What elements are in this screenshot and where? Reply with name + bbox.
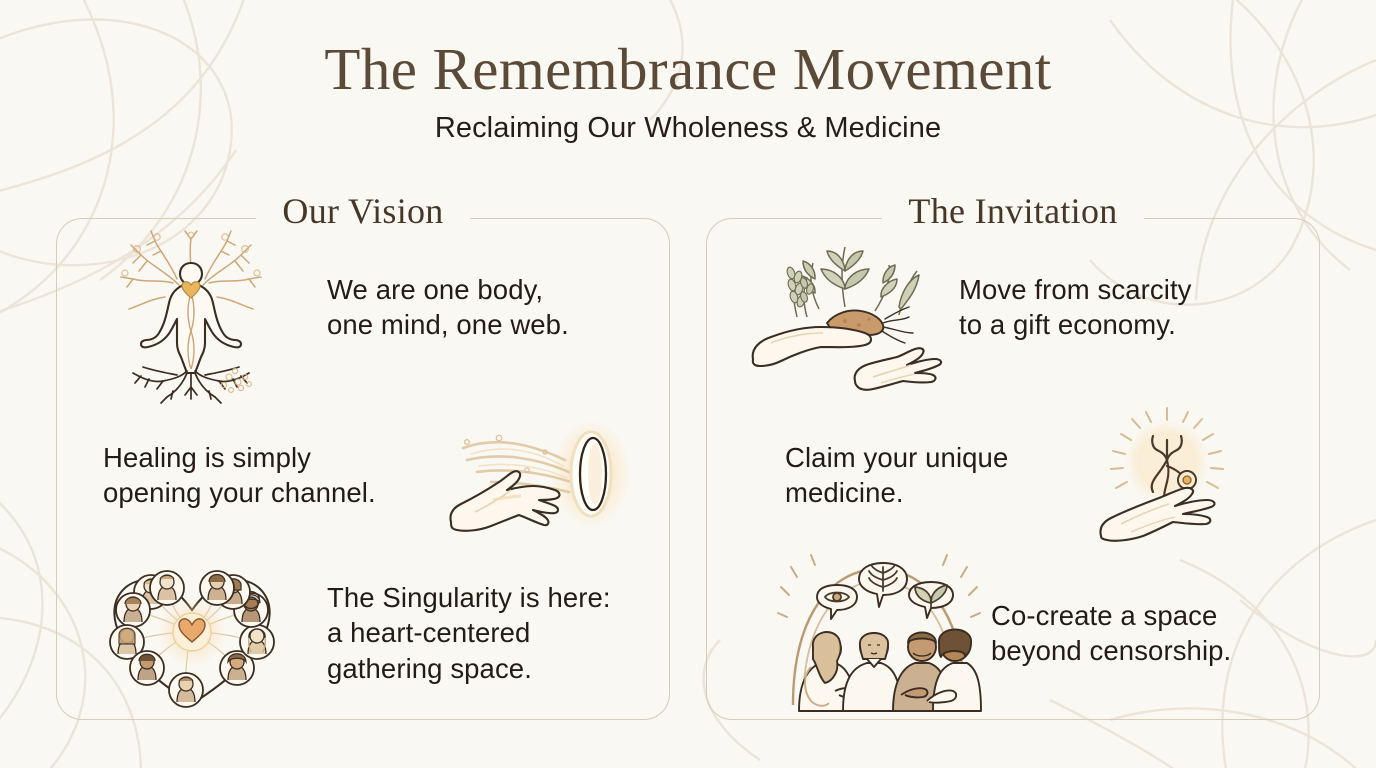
section-title-our-vision: Our Vision: [57, 190, 669, 232]
page-title: The Remembrance Movement: [0, 38, 1376, 101]
hand-energy-portal-icon: [445, 416, 627, 534]
item-unique-medicine: Claim your unique medicine.: [707, 395, 1319, 555]
item-one-body: We are one body, one mind, one web.: [57, 227, 669, 387]
item-gift-economy: Move from scarcity to a gift economy.: [707, 227, 1319, 387]
page-subtitle: Reclaiming Our Wholeness & Medicine: [0, 112, 1376, 145]
item-unique-medicine-text: Claim your unique medicine.: [785, 440, 1085, 511]
item-singularity-gathering-text: The Singularity is here: a heart-centere…: [327, 580, 611, 686]
infographic-page: The Remembrance Movement Reclaiming Our …: [0, 0, 1376, 768]
section-title-our-vision-label: Our Vision: [256, 190, 469, 232]
item-gift-economy-text: Move from scarcity to a gift economy.: [959, 272, 1192, 343]
heart-community-circle-icon: [103, 554, 281, 712]
card-our-vision: Our Vision: [56, 218, 670, 720]
tree-human-roots-icon: [107, 227, 275, 387]
hands-offering-herbs-icon: [749, 231, 945, 383]
item-beyond-censorship: Co-create a space beyond censorship.: [707, 553, 1319, 713]
item-healing-channel: Healing is simply opening your channel.: [57, 395, 669, 555]
section-title-the-invitation: The Invitation: [707, 190, 1319, 232]
card-the-invitation: The Invitation: [706, 218, 1320, 720]
item-one-body-text: We are one body, one mind, one web.: [327, 272, 569, 343]
item-healing-channel-text: Healing is simply opening your channel.: [103, 440, 443, 511]
header: The Remembrance Movement Reclaiming Our …: [0, 38, 1376, 145]
item-singularity-gathering: The Singularity is here: a heart-centere…: [57, 553, 669, 713]
radiant-seed-on-palm-icon: [1097, 410, 1237, 540]
group-conversation-dome-icon: [781, 555, 977, 711]
item-beyond-censorship-text: Co-create a space beyond censorship.: [991, 598, 1231, 669]
columns-container: Our Vision: [0, 218, 1376, 728]
section-title-the-invitation-label: The Invitation: [882, 190, 1143, 232]
